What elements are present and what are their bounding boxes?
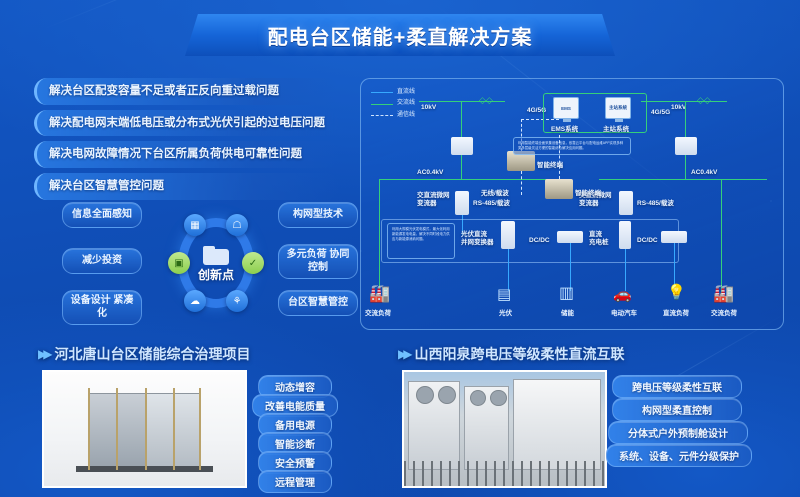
pv-inverter-icon: [501, 221, 515, 249]
diagram-legend: 直流线 交流线 通信线: [371, 87, 415, 121]
lv-busbar-right: [599, 179, 767, 180]
hv-busbar-right: [641, 101, 727, 102]
grid-icon: ▦: [184, 214, 206, 236]
folder-icon: [203, 246, 229, 265]
callout-terminal: 利用智能终端全面采集设备信息，依靠云平台与配电运维APP实现多种类多层级灵活方便…: [513, 137, 631, 155]
bullet-item: 解决台区智慧管控问题: [34, 173, 339, 200]
charger-icon: [619, 221, 631, 249]
fan-icon: [490, 390, 506, 406]
project-1-title: 河北唐山台区储能综合治理项目: [54, 344, 250, 364]
battery-storage-icon: ▥: [559, 283, 574, 303]
cloud-icon: ☁: [184, 290, 206, 312]
problem-bullet-list: 解决台区配变容量不足或者正反向重过载问题 解决配电网末端低电压或分布式光伏引起的…: [34, 78, 339, 205]
ac-load-feed-left: [379, 179, 380, 299]
label-charger: 直流充电桩: [589, 231, 609, 248]
project-1-title-row: ▶▶ 河北唐山台区储能综合治理项目: [38, 344, 250, 364]
chart-check-icon: ✓: [242, 252, 264, 274]
legend-comm: 通信线: [371, 110, 415, 121]
legend-dc-label: 直流线: [397, 87, 415, 98]
fence-rail: [173, 388, 175, 470]
comm-line-left-down: [521, 171, 522, 195]
project-2-title-row: ▶▶ 山西阳泉跨电压等级柔性直流互联: [398, 344, 624, 364]
label-terminal-right: 智能终端: [575, 187, 601, 197]
legend-ac-label: 交流线: [397, 98, 415, 109]
fan-icon: [438, 386, 456, 404]
label-master: 主站系统: [603, 123, 629, 133]
fence-rail: [199, 388, 201, 470]
innovation-chip-reduce-investment: 减少投资: [62, 248, 142, 274]
solar-panel-icon: ▤: [497, 285, 511, 303]
label-ems: EMS系统: [551, 123, 578, 133]
ems-monitor-icon: EMS: [553, 97, 579, 119]
innovation-ring: 创新点 ▦ ☖ ▣ ✓ ☁ ⚘: [170, 204, 262, 322]
project-2-tag: 跨电压等级柔性互联: [612, 375, 742, 398]
innovation-chip-smart-management: 台区智慧管控: [278, 290, 358, 316]
tx-drop-right: [685, 155, 686, 179]
label-dc-load: 直流负荷: [663, 307, 689, 317]
fence-rail: [88, 388, 90, 470]
label-pv: 光伏: [499, 307, 512, 317]
users-icon: ⚘: [226, 290, 248, 312]
play-triangle-icon: ▶▶: [398, 347, 408, 361]
tx-drop-left: [461, 155, 462, 179]
dcdc-unit-2: [661, 231, 687, 243]
dcdc-unit-1: [557, 231, 583, 243]
breaker-icon-right: ◇◇: [697, 95, 711, 106]
innovation-chip-compact-design: 设备设计 紧凑化: [62, 290, 142, 325]
project-1-photo: [42, 370, 247, 488]
bullet-item: 解决台区配变容量不足或者正反向重过载问题: [34, 78, 339, 105]
page-title-banner: 配电台区储能+柔直解决方案: [0, 14, 800, 58]
innovation-chip-info-sensing: 信息全面感知: [62, 202, 142, 228]
lv-busbar-left: [379, 179, 549, 180]
label-rs485-left: RS-485/载波: [473, 197, 510, 207]
transformer-left: [451, 137, 473, 155]
electric-vehicle-icon: 🚗: [613, 285, 632, 303]
comm-line-right: [559, 135, 560, 179]
fan-icon: [416, 386, 434, 404]
project-2-photo: [402, 370, 607, 488]
label-dcdc-1: DC/DC: [529, 237, 550, 244]
label-ac-load-right: 交流负荷: [711, 307, 737, 317]
dc-load-bulb-icon: 💡: [667, 283, 686, 301]
legend-ac-swatch: [371, 104, 393, 105]
legend-comm-label: 通信线: [397, 110, 415, 121]
label-wireless: 无线/载波: [481, 187, 509, 197]
bullet-item: 解决电网故障情况下台区所属负荷供电可靠性问题: [34, 141, 339, 168]
label-rs485-right: RS-485/载波: [637, 197, 674, 207]
fence-rail: [145, 388, 147, 470]
legend-dc: 直流线: [371, 87, 415, 98]
legend-ac: 交流线: [371, 98, 415, 109]
container-unit: [513, 379, 601, 470]
label-ev: 电动汽车: [611, 307, 637, 317]
project-2-tag: 构网型柔直控制: [612, 398, 742, 421]
innovation-diagram: 信息全面感知 减少投资 设备设计 紧凑化 构网型技术 多元负荷 协同控制 台区智…: [60, 198, 360, 330]
system-architecture-diagram: 直流线 交流线 通信线 10kV ◇◇ AC0.4kV 交直流微网变流器 RS-…: [360, 78, 784, 330]
page-title: 配电台区储能+柔直解决方案: [268, 21, 533, 50]
project-2-title: 山西阳泉跨电压等级柔性直流互联: [414, 344, 624, 364]
transformer-right: [675, 137, 697, 155]
innovation-chip-multi-load-control: 多元负荷 协同控制: [278, 244, 358, 279]
label-dcdc-2: DC/DC: [637, 237, 658, 244]
project-2-tag: 系统、设备、元件分级保护: [606, 444, 752, 467]
title-band: 配电台区储能+柔直解决方案: [185, 14, 615, 56]
bullet-item: 解决配电网末端低电压或分布式光伏引起的过电压问题: [34, 110, 339, 137]
label-pv-converter: 光伏直流并网变换器: [461, 231, 494, 248]
label-hv-right: 10kV: [671, 104, 686, 111]
smart-terminal-right: [545, 179, 573, 199]
breaker-icon-left: ◇◇: [479, 95, 493, 106]
project-1-tag: 远程管理: [258, 470, 332, 493]
label-lv-right: AC0.4kV: [691, 169, 717, 176]
project-2-tag: 分体式户外预制舱设计: [608, 421, 748, 444]
label-lv-left: AC0.4kV: [417, 169, 443, 176]
innovation-chip-grid-forming: 构网型技术: [278, 202, 358, 228]
label-4g5g-right: 4G/5G: [651, 109, 670, 116]
label-converter-left: 交直流微网变流器: [417, 192, 450, 209]
play-triangle-icon: ▶▶: [38, 347, 48, 361]
door-icon: ▣: [168, 252, 190, 274]
fence-rail: [116, 388, 118, 470]
legend-dc-swatch: [371, 92, 393, 93]
ac-load-feed-right: [721, 179, 722, 299]
converter-left: [455, 191, 469, 215]
factory-icon-left: 🏭: [369, 284, 390, 304]
master-monitor-icon: 主站系统: [605, 97, 631, 119]
fence-overlay: [404, 461, 605, 486]
label-hv-left: 10kV: [421, 104, 436, 111]
converter-right: [619, 191, 633, 215]
person-icon: ☖: [226, 214, 248, 236]
factory-icon-right: 🏭: [713, 284, 734, 304]
label-ac-load-left: 交流负荷: [365, 307, 391, 317]
legend-comm-swatch: [371, 115, 393, 116]
label-ess: 储能: [561, 307, 574, 317]
